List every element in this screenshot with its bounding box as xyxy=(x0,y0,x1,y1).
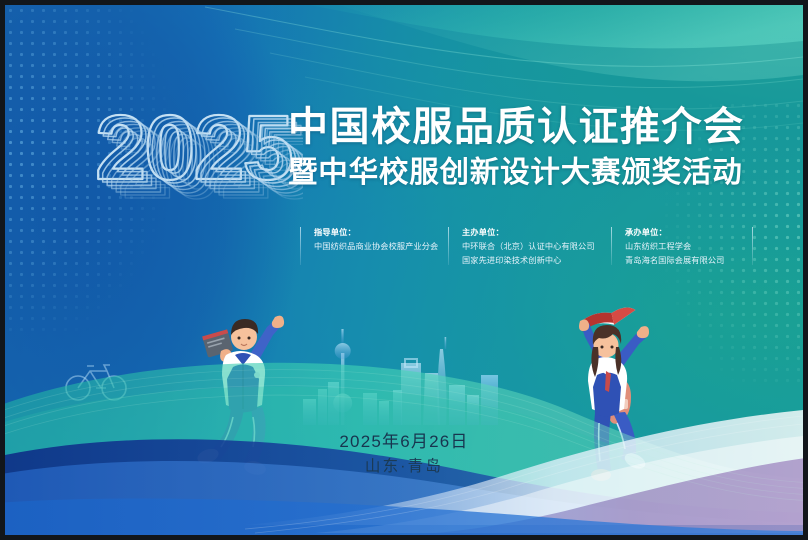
event-date: 2025年6月26日 xyxy=(5,429,803,455)
poster-canvas: 2025 中国校服品质认证推介会 暨中华校服创新设计大赛颁奖活动 xyxy=(5,5,803,535)
poster-frame: 2025 中国校服品质认证推介会 暨中华校服创新设计大赛颁奖活动 xyxy=(0,0,808,540)
event-location: 山东·青岛 xyxy=(5,455,803,478)
event-footer: 2025年6月26日 山东·青岛 xyxy=(5,429,803,478)
